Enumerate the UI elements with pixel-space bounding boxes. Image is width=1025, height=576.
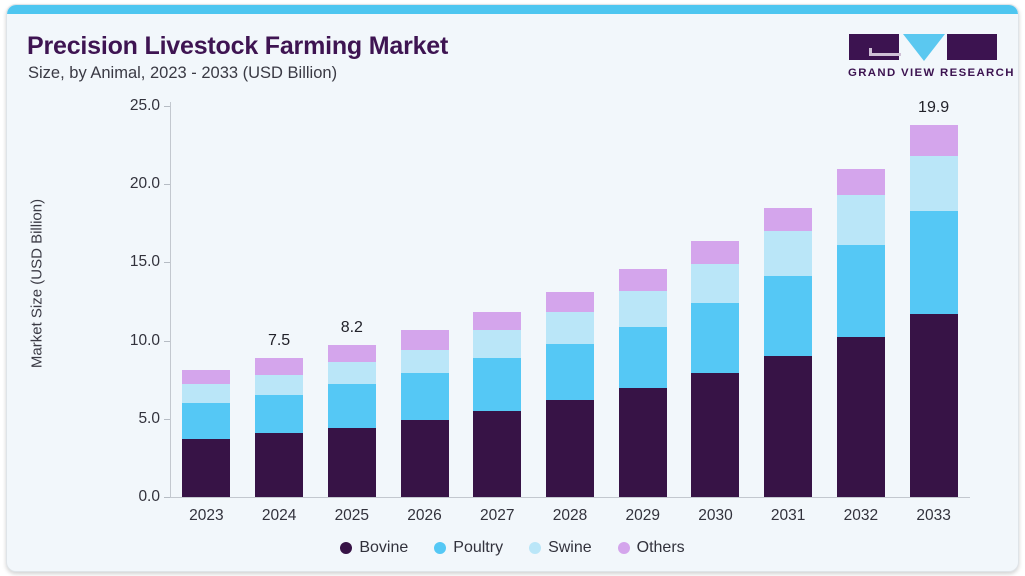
bar-total-label: 8.2 [312,319,392,337]
bar-segment-others[interactable] [255,358,303,375]
bar-segment-others[interactable] [401,330,449,350]
bar-segment-others[interactable] [691,241,739,264]
bar-segment-swine[interactable] [764,231,812,276]
bar-segment-swine[interactable] [837,195,885,245]
legend-swatch-icon [340,542,352,554]
bar-segment-poultry[interactable] [619,327,667,388]
legend-swatch-icon [529,542,541,554]
bar-segment-swine[interactable] [910,156,958,211]
bar-segment-others[interactable] [182,370,230,384]
y-axis-tick-label: 25.0 [102,97,160,115]
bar-segment-bovine[interactable] [764,356,812,497]
bar-segment-bovine[interactable] [255,433,303,497]
bar-segment-swine[interactable] [546,312,594,343]
legend-item-swine[interactable]: Swine [529,539,592,557]
bar-segment-poultry[interactable] [182,403,230,439]
legend-item-others[interactable]: Others [618,539,685,557]
y-axis-tick-mark [164,341,170,342]
y-axis-tick-mark [164,106,170,107]
bar-segment-bovine[interactable] [910,314,958,497]
bar-segment-bovine[interactable] [619,388,667,497]
y-axis-tick-mark [164,262,170,263]
legend-label: Poultry [453,539,503,557]
x-axis-line [170,497,970,498]
bar-segment-poultry[interactable] [473,358,521,411]
y-axis-tick-label: 5.0 [102,410,160,428]
bar-segment-others[interactable] [910,125,958,156]
bar-segment-swine[interactable] [473,330,521,358]
bar-segment-bovine[interactable] [328,428,376,497]
plot-area: Market Size (USD Billion) 0.05.010.015.0… [7,5,1019,572]
y-axis-tick-mark [164,497,170,498]
y-axis-tick-mark [164,184,170,185]
x-axis-tick-label: 2030 [675,507,755,525]
bar-segment-poultry[interactable] [691,303,739,373]
bar-segment-bovine[interactable] [837,337,885,497]
bar-total-label: 19.9 [894,99,974,117]
chart-card: Precision Livestock Farming Market Size,… [6,4,1019,572]
bar-segment-swine[interactable] [255,375,303,395]
x-axis-tick-label: 2029 [603,507,683,525]
bar-segment-swine[interactable] [401,350,449,373]
x-axis-tick-label: 2025 [312,507,392,525]
legend-swatch-icon [434,542,446,554]
bar-segment-bovine[interactable] [182,439,230,497]
y-axis-title: Market Size (USD Billion) [29,159,46,409]
bar-segment-bovine[interactable] [546,400,594,497]
bar-segment-swine[interactable] [691,264,739,303]
bar-segment-poultry[interactable] [328,384,376,428]
bar-segment-swine[interactable] [182,384,230,403]
y-axis-tick-label: 0.0 [102,488,160,506]
y-axis-tick-label: 20.0 [102,175,160,193]
bar-segment-others[interactable] [328,345,376,362]
y-axis-tick-label: 10.0 [102,332,160,350]
x-axis-tick-label: 2033 [894,507,974,525]
y-axis-line [170,102,171,497]
bar-segment-swine[interactable] [328,362,376,384]
bar-segment-others[interactable] [546,292,594,312]
bar-segment-others[interactable] [473,312,521,329]
bar-segment-poultry[interactable] [255,395,303,433]
legend-swatch-icon [618,542,630,554]
legend-item-poultry[interactable]: Poultry [434,539,503,557]
bar-total-label: 7.5 [239,332,319,350]
legend-label: Swine [548,539,592,557]
bar-segment-poultry[interactable] [401,373,449,420]
bar-segment-bovine[interactable] [401,420,449,497]
legend-item-bovine[interactable]: Bovine [340,539,408,557]
x-axis-tick-label: 2024 [239,507,319,525]
bar-segment-poultry[interactable] [910,211,958,314]
legend-label: Bovine [359,539,408,557]
x-axis-tick-label: 2023 [166,507,246,525]
bar-segment-poultry[interactable] [546,344,594,400]
bar-segment-others[interactable] [764,208,812,231]
x-axis-tick-label: 2026 [385,507,465,525]
bar-segment-others[interactable] [619,269,667,291]
bar-segment-swine[interactable] [619,291,667,327]
x-axis-tick-label: 2031 [748,507,828,525]
x-axis-tick-label: 2028 [530,507,610,525]
legend-label: Others [637,539,685,557]
bar-segment-bovine[interactable] [473,411,521,497]
bar-segment-poultry[interactable] [764,276,812,356]
bar-segment-bovine[interactable] [691,373,739,497]
x-axis-tick-label: 2032 [821,507,901,525]
bar-segment-others[interactable] [837,169,885,196]
chart-legend: BovinePoultrySwineOthers [7,539,1018,557]
x-axis-tick-label: 2027 [457,507,537,525]
y-axis-tick-label: 15.0 [102,253,160,271]
bar-segment-poultry[interactable] [837,245,885,337]
y-axis-tick-mark [164,419,170,420]
